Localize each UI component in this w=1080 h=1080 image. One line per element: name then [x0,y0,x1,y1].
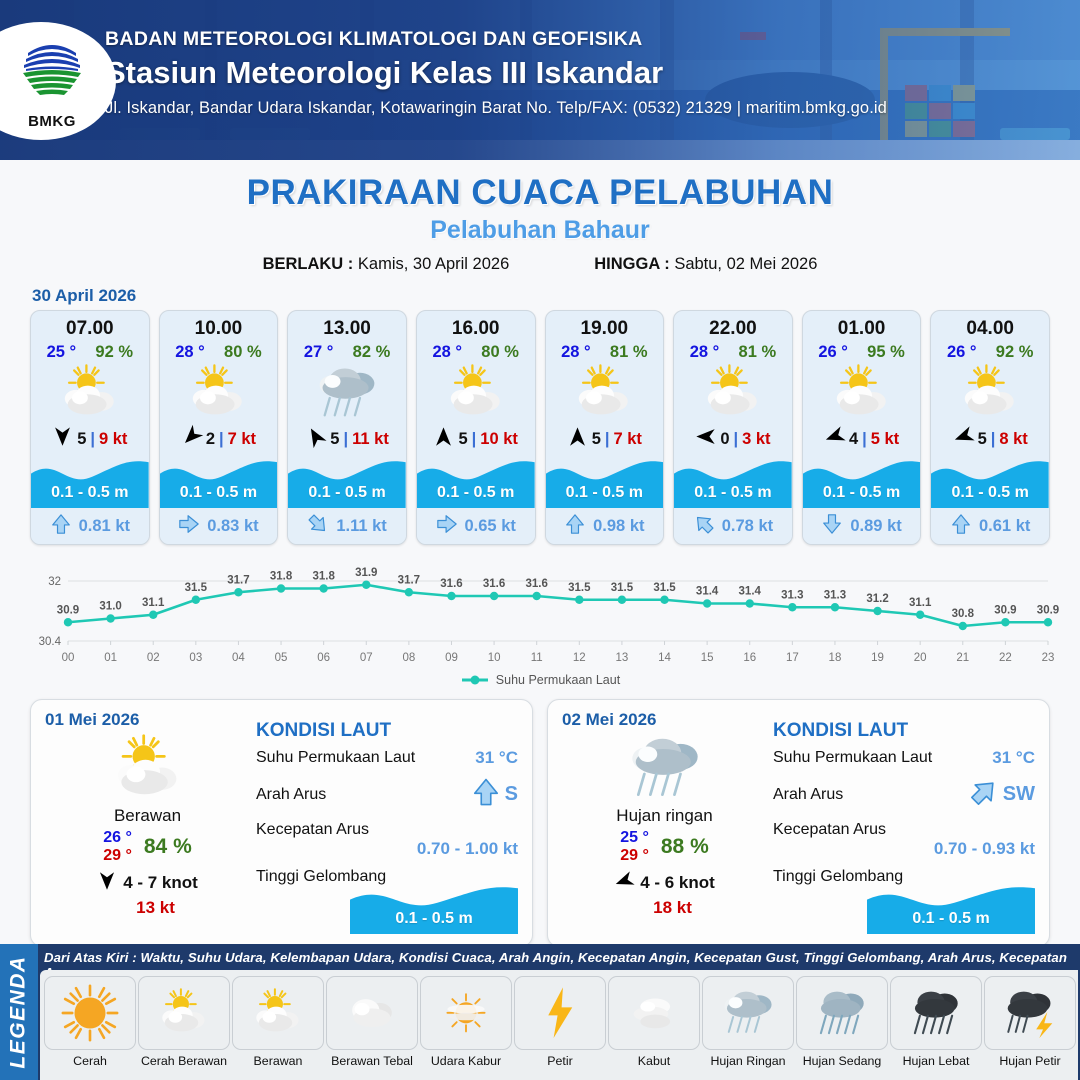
svg-text:17: 17 [786,652,799,664]
partly-cloudy-icon [45,732,250,804]
card-wind-speed: 5 [77,430,86,449]
card-gust: 3 kt [742,430,770,449]
svg-text:31.7: 31.7 [227,574,249,586]
partly-cloudy-icon [803,362,921,424]
svg-text:31.9: 31.9 [355,567,377,579]
card-current-speed: 0.89 kt [850,517,901,536]
card-current-speed: 0.78 kt [722,517,773,536]
svg-text:05: 05 [275,652,288,664]
partly-cloudy-icon [160,362,278,424]
card-wind-separator: | [343,430,348,449]
hourly-card: 19.00 28 ° 81 % 5 | 7 [545,310,665,545]
hingga-value: Sabtu, 02 Mei 2026 [674,255,817,273]
current-direction-icon [693,513,715,540]
current-direction-icon [471,777,501,812]
cloudy-icon [326,976,418,1050]
card-temperature: 27 ° [304,343,334,362]
partly-cloudy-icon [546,362,664,424]
legend-item-label: Udara Kabur [420,1054,512,1068]
current-direction-label: SW [1003,783,1035,806]
current-direction-icon [436,513,458,540]
daily-right: KONDISI LAUT Suhu Permukaan Laut 31 °C A… [250,710,518,934]
wind-direction-icon [695,426,716,452]
partly-cloudy-icon [232,976,324,1050]
card-current-speed: 1.11 kt [336,517,386,536]
card-gust: 10 kt [480,430,518,449]
svg-text:12: 12 [573,652,586,664]
card-current: 0.98 kt [546,508,664,544]
svg-text:31.3: 31.3 [824,589,846,601]
fog-icon [608,976,700,1050]
daily-humidity: 84 % [144,835,192,859]
card-current: 0.89 kt [803,508,921,544]
svg-text:23: 23 [1042,652,1055,664]
card-humidity: 80 % [481,343,519,362]
daily-wave-height: 0.1 - 0.5 m [867,910,1035,928]
card-wind: 4 | 5 kt [803,424,921,456]
svg-text:18: 18 [829,652,842,664]
card-wind: 5 | 9 kt [31,424,149,456]
current-direction-icon [307,513,329,540]
chart-legend-label: Suhu Permukaan Laut [496,673,620,687]
svg-text:31.4: 31.4 [739,586,762,598]
card-humidity: 81 % [739,343,777,362]
svg-text:31.7: 31.7 [398,574,420,586]
hourly-card: 01.00 26 ° 95 % 4 | 5 [802,310,922,545]
legend-item: Hujan Petir [984,976,1076,1068]
svg-text:31.1: 31.1 [909,597,932,609]
sst-chart: 3230.430.90031.00131.10231.50331.70431.8… [26,559,1054,669]
legend-item: Cerah [44,976,136,1068]
svg-text:00: 00 [62,652,75,664]
card-wind: 5 | 10 kt [417,424,535,456]
sea-condition-title: KONDISI LAUT [256,720,518,742]
card-gust: 5 kt [871,430,899,449]
hourly-card: 07.00 25 ° 92 % 5 | 9 [30,310,150,545]
svg-text:31.5: 31.5 [611,582,634,594]
daily-left: 01 Mei 2026 Berawan 26 ° 29 ° [45,710,250,934]
card-wind-speed: 4 [849,430,858,449]
daily-date: 01 Mei 2026 [45,710,250,730]
page-title: PRAKIRAAN CUACA PELABUHAN [0,173,1080,213]
title-block: PRAKIRAAN CUACA PELABUHAN Pelabuhan Baha… [0,160,1080,274]
sea-row-label: Arah Arus [256,786,326,804]
svg-text:31.4: 31.4 [696,586,719,598]
card-time: 07.00 [31,311,149,340]
lightning-icon [514,976,606,1050]
card-wind: 2 | 7 kt [160,424,278,456]
card-gust: 7 kt [228,430,256,449]
svg-text:03: 03 [189,652,202,664]
svg-text:10: 10 [488,652,501,664]
sea-row-value: SW [969,777,1035,812]
card-gust: 11 kt [352,430,389,449]
card-temperature: 28 ° [561,343,591,362]
svg-text:01: 01 [104,652,117,664]
svg-text:30.9: 30.9 [57,604,79,616]
current-direction-icon [564,513,586,540]
card-wind-separator: | [219,430,224,449]
card-wave-height: 0.1 - 0.5 m [288,484,406,502]
legend-item: Udara Kabur [420,976,512,1068]
daily-wave-height: 0.1 - 0.5 m [350,910,518,928]
hourly-card: 16.00 28 ° 80 % 5 | 10 [416,310,536,545]
card-wave-height: 0.1 - 0.5 m [931,484,1049,502]
card-time: 13.00 [288,311,406,340]
legend-item: Berawan Tebal [326,976,418,1068]
daily-forecast-list: 01 Mei 2026 Berawan 26 ° 29 ° [0,687,1080,947]
sea-row-label: Arah Arus [773,786,843,804]
sea-row: Arah Arus SW [773,777,1035,812]
legend-item: Hujan Sedang [796,976,888,1068]
wind-direction-icon [953,426,974,452]
card-wave-height: 0.1 - 0.5 m [31,484,149,502]
svg-text:20: 20 [914,652,927,664]
rain-icon [288,362,406,424]
daily-gust: 13 kt [61,898,250,918]
sea-row: Tinggi Gelombang 0.1 - 0.5 m [773,868,1035,936]
card-current-speed: 0.61 kt [979,517,1030,536]
sea-row-label: Kecepatan Arus [256,821,518,839]
hourly-card: 13.00 27 ° 82 % 5 | 11 kt 0.1 - 0.5 m [287,310,407,545]
svg-text:32: 32 [48,576,61,588]
card-temp-hum: 28 ° 80 % [417,340,535,362]
card-temp-hum: 25 ° 92 % [31,340,149,362]
daily-temp-stack: 26 ° 29 ° [103,829,132,865]
svg-text:31.6: 31.6 [440,578,462,590]
card-time: 16.00 [417,311,535,340]
card-wave: 0.1 - 0.5 m [417,456,535,508]
wind-direction-icon [181,426,202,452]
card-wind-separator: | [90,430,95,449]
validity-row: BERLAKU : Kamis, 30 April 2026 HINGGA : … [0,255,1080,274]
wind-direction-icon [567,426,588,452]
card-humidity: 95 % [867,343,905,362]
card-wave-height: 0.1 - 0.5 m [417,484,535,502]
partly-cloudy-icon [674,362,792,424]
hingga-label: HINGGA : [594,255,669,273]
card-current: 0.61 kt [931,508,1049,544]
card-temp-hum: 28 ° 81 % [674,340,792,362]
svg-text:30.4: 30.4 [39,636,62,648]
daily-temp-max: 29 ° [103,847,132,865]
sea-row-value: 31 °C [475,748,518,768]
sea-row-value: 31 °C [992,748,1035,768]
card-time: 04.00 [931,311,1049,340]
hourly-forecast-list: 07.00 25 ° 92 % 5 | 9 [0,310,1080,545]
legend-item: Berawan [232,976,324,1068]
light-rain-icon [702,976,794,1050]
svg-text:04: 04 [232,652,245,664]
heavy-rain-icon [890,976,982,1050]
hourly-date-label: 30 April 2026 [32,286,1080,306]
svg-text:31.8: 31.8 [312,571,335,583]
chart-legend-marker [460,674,490,686]
legend-item-label: Kabut [608,1054,700,1068]
rain-icon [562,732,767,804]
legend-item-label: Berawan [232,1054,324,1068]
moderate-rain-icon [796,976,888,1050]
svg-text:31.5: 31.5 [568,582,591,594]
berlaku-label: BERLAKU : [263,255,354,273]
card-current: 0.78 kt [674,508,792,544]
card-temperature: 26 ° [947,343,977,362]
card-wave: 0.1 - 0.5 m [160,456,278,508]
wind-direction-icon [97,871,117,896]
daily-right: KONDISI LAUT Suhu Permukaan Laut 31 °C A… [767,710,1035,934]
sea-row: Kecepatan Arus 0.70 - 1.00 kt [256,821,518,859]
svg-text:02: 02 [147,652,160,664]
card-gust: 7 kt [614,430,642,449]
card-wave: 0.1 - 0.5 m [803,456,921,508]
card-wind-separator: | [734,430,739,449]
legenda-label: LEGENDA [7,955,31,1068]
daily-date: 02 Mei 2026 [562,710,767,730]
svg-text:16: 16 [743,652,756,664]
card-wind-separator: | [862,430,867,449]
daily-wave-badge: 0.1 - 0.5 m [350,882,518,936]
legend-item: Hujan Lebat [890,976,982,1068]
card-wave-height: 0.1 - 0.5 m [160,484,278,502]
daily-wind: 4 - 6 knot [562,871,767,896]
wind-direction-icon [433,426,454,452]
card-time: 01.00 [803,311,921,340]
svg-text:11: 11 [531,652,543,664]
card-wind-separator: | [991,430,996,449]
partly-cloudy-icon [31,362,149,424]
svg-text:15: 15 [701,652,714,664]
card-wave-height: 0.1 - 0.5 m [546,484,664,502]
svg-text:31.0: 31.0 [99,601,121,613]
card-wave: 0.1 - 0.5 m [546,456,664,508]
berlaku-value: Kamis, 30 April 2026 [358,255,509,273]
current-direction-icon [950,513,972,540]
card-wind-speed: 5 [592,430,601,449]
card-current: 1.11 kt [288,508,406,544]
card-gust: 9 kt [99,430,127,449]
hourly-card: 10.00 28 ° 80 % 2 | 7 [159,310,279,545]
partly-cloudy-icon [417,362,535,424]
card-wind: 5 | 11 kt [288,424,406,456]
daily-left: 02 Mei 2026 Hujan ringan 25 ° 29 ° 88 % … [562,710,767,934]
card-humidity: 82 % [353,343,391,362]
legend-item-label: Cerah Berawan [138,1054,230,1068]
svg-text:07: 07 [360,652,373,664]
haze-icon [420,976,512,1050]
current-direction-icon [178,513,200,540]
station-name: Stasiun Meteorologi Kelas III Iskandar [105,55,887,91]
card-temperature: 28 ° [432,343,462,362]
legend-footer: LEGENDA Dari Atas Kiri : Waktu, Suhu Uda… [0,944,1080,1080]
daily-temps: 26 ° 29 ° 84 % [45,829,250,865]
card-wind-speed: 0 [720,430,729,449]
header-text-block: BADAN METEOROLOGI KLIMATOLOGI DAN GEOFIS… [105,28,887,118]
sea-row-value: 0.70 - 1.00 kt [256,839,518,859]
current-direction-icon [50,513,72,540]
svg-text:13: 13 [616,652,629,664]
legend-item-label: Cerah [44,1054,136,1068]
sea-row: Arah Arus S [256,777,518,812]
logo-text: BMKG [13,113,91,130]
legend-item-label: Hujan Petir [984,1054,1076,1068]
svg-text:30.8: 30.8 [952,608,975,620]
card-temperature: 25 ° [47,343,77,362]
sun-cloud-icon [138,976,230,1050]
partly-cloudy-icon [931,362,1049,424]
svg-text:31.5: 31.5 [653,582,676,594]
svg-text:21: 21 [956,652,969,664]
chart-legend: Suhu Permukaan Laut [0,673,1080,687]
legend-item-label: Berawan Tebal [326,1054,418,1068]
daily-temp-stack: 25 ° 29 ° [620,829,649,865]
card-time: 22.00 [674,311,792,340]
legend-item: Kabut [608,976,700,1068]
card-temperature: 28 ° [690,343,720,362]
daily-card: 01 Mei 2026 Berawan 26 ° 29 ° [30,699,533,947]
svg-text:31.6: 31.6 [526,578,548,590]
card-wind-speed: 2 [206,430,215,449]
svg-text:06: 06 [317,652,330,664]
daily-temp-min: 26 ° [103,829,132,847]
legend-item-label: Hujan Lebat [890,1054,982,1068]
daily-card: 02 Mei 2026 Hujan ringan 25 ° 29 ° 88 % … [547,699,1050,947]
hourly-card: 04.00 26 ° 92 % 5 | 8 [930,310,1050,545]
hourly-card: 22.00 28 ° 81 % 0 | 3 [673,310,793,545]
legend-item-label: Hujan Sedang [796,1054,888,1068]
card-wind: 5 | 8 kt [931,424,1049,456]
legend-item: Cerah Berawan [138,976,230,1068]
svg-text:31.5: 31.5 [185,582,208,594]
card-current: 0.83 kt [160,508,278,544]
card-wind: 0 | 3 kt [674,424,792,456]
card-current-speed: 0.83 kt [207,517,258,536]
card-current: 0.81 kt [31,508,149,544]
card-temp-hum: 26 ° 95 % [803,340,921,362]
wind-direction-icon [52,426,73,452]
card-wave-height: 0.1 - 0.5 m [674,484,792,502]
daily-wind-range: 4 - 6 knot [640,873,715,893]
legend-icons-panel: Cerah Cerah Berawan [40,970,1078,1080]
svg-text:09: 09 [445,652,458,664]
sea-row-label: Suhu Permukaan Laut [773,749,932,767]
current-direction-icon [969,777,999,812]
card-time: 19.00 [546,311,664,340]
card-wave-height: 0.1 - 0.5 m [803,484,921,502]
legenda-sidebar: LEGENDA [0,944,38,1080]
svg-text:31.1: 31.1 [142,597,165,609]
legend-item: Petir [514,976,606,1068]
card-wave: 0.1 - 0.5 m [931,456,1049,508]
daily-temps: 25 ° 29 ° 88 % [562,829,767,865]
berlaku: BERLAKU : Kamis, 30 April 2026 [263,255,510,274]
daily-gust: 18 kt [578,898,767,918]
current-direction-icon [821,513,843,540]
hingga: HINGGA : Sabtu, 02 Mei 2026 [594,255,817,274]
card-temp-hum: 26 ° 92 % [931,340,1049,362]
sea-row: Kecepatan Arus 0.70 - 0.93 kt [773,821,1035,859]
card-current-speed: 0.81 kt [79,517,130,536]
station-address: Jl. Iskandar, Bandar Udara Iskandar, Kot… [105,99,887,118]
svg-text:19: 19 [871,652,884,664]
svg-text:14: 14 [658,652,671,664]
card-temp-hum: 28 ° 81 % [546,340,664,362]
card-wind-separator: | [472,430,477,449]
svg-text:31.2: 31.2 [866,593,888,605]
daily-wind-range: 4 - 7 knot [123,873,198,893]
card-wave: 0.1 - 0.5 m [288,456,406,508]
daily-condition: Hujan ringan [562,806,767,826]
daily-temp-min: 25 ° [620,829,649,847]
wind-direction-icon [305,426,326,452]
sea-row-label: Suhu Permukaan Laut [256,749,415,767]
card-temp-hum: 27 ° 82 % [288,340,406,362]
sea-condition-title: KONDISI LAUT [773,720,1035,742]
sea-row: Suhu Permukaan Laut 31 °C [773,748,1035,768]
daily-temp-max: 29 ° [620,847,649,865]
sun-icon [44,976,136,1050]
card-wind-speed: 5 [978,430,987,449]
svg-text:31.6: 31.6 [483,578,505,590]
card-humidity: 80 % [224,343,262,362]
card-humidity: 92 % [996,343,1034,362]
daily-wind: 4 - 7 knot [45,871,250,896]
svg-text:30.9: 30.9 [1037,604,1059,616]
card-temperature: 28 ° [175,343,205,362]
card-temp-hum: 28 ° 80 % [160,340,278,362]
sea-row-value: S [471,777,518,812]
svg-text:22: 22 [999,652,1012,664]
card-temperature: 26 ° [818,343,848,362]
card-wind: 5 | 7 kt [546,424,664,456]
sea-row-label: Kecepatan Arus [773,821,1035,839]
legend-item: Hujan Ringan [702,976,794,1068]
legend-item-label: Petir [514,1054,606,1068]
bmkg-emblem-icon [14,33,90,107]
current-direction-label: S [505,783,518,806]
card-current-speed: 0.98 kt [593,517,644,536]
legend-item-label: Hujan Ringan [702,1054,794,1068]
wind-direction-icon [614,871,634,896]
thunderstorm-icon [984,976,1076,1050]
card-current-speed: 0.65 kt [465,517,516,536]
card-humidity: 92 % [95,343,133,362]
daily-wave-badge: 0.1 - 0.5 m [867,882,1035,936]
daily-condition: Berawan [45,806,250,826]
card-wind-separator: | [605,430,610,449]
page-subtitle: Pelabuhan Bahaur [0,216,1080,245]
card-gust: 8 kt [999,430,1027,449]
card-wave: 0.1 - 0.5 m [31,456,149,508]
card-wave: 0.1 - 0.5 m [674,456,792,508]
sea-row: Tinggi Gelombang 0.1 - 0.5 m [256,868,518,936]
svg-text:31.8: 31.8 [270,571,293,583]
sea-row: Suhu Permukaan Laut 31 °C [256,748,518,768]
page-header: BMKG BADAN METEOROLOGI KLIMATOLOGI DAN G… [0,0,1080,160]
card-humidity: 81 % [610,343,648,362]
card-time: 10.00 [160,311,278,340]
agency-name: BADAN METEOROLOGI KLIMATOLOGI DAN GEOFIS… [105,28,887,51]
sea-row-value: 0.70 - 0.93 kt [773,839,1035,859]
card-wind-speed: 5 [330,430,339,449]
wind-direction-icon [824,426,845,452]
card-current: 0.65 kt [417,508,535,544]
svg-text:31.3: 31.3 [781,589,803,601]
daily-humidity: 88 % [661,835,709,859]
card-wind-speed: 5 [458,430,467,449]
svg-text:30.9: 30.9 [994,604,1016,616]
svg-text:08: 08 [402,652,415,664]
